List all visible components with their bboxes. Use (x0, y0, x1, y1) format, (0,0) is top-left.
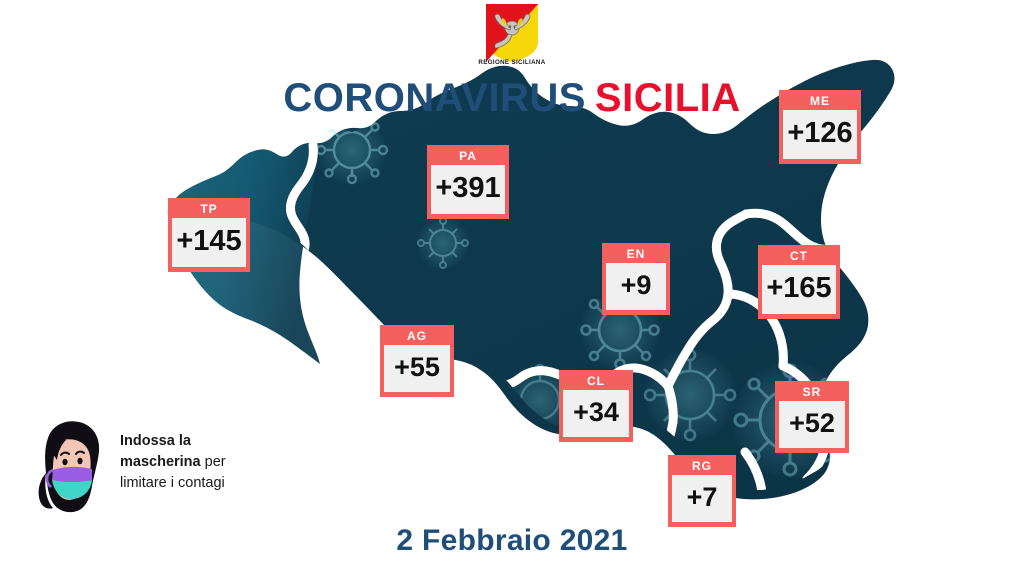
province-badge-sr[interactable]: SR +52 (775, 381, 849, 453)
province-code-pa: PA (431, 148, 505, 165)
province-value-me: +126 (783, 110, 857, 159)
mask-notice-line1: Indossa la (120, 433, 191, 449)
mask-notice-line2-bold: mascherina (120, 454, 201, 470)
province-value-ag: +55 (384, 345, 450, 392)
province-code-sr: SR (779, 384, 845, 401)
province-code-rg: RG (672, 458, 732, 475)
province-code-cl: CL (563, 373, 629, 390)
mask-notice: Indossa la mascherina per limitare i con… (24, 418, 276, 514)
regione-siciliana-logo (482, 2, 542, 64)
province-value-sr: +52 (779, 401, 845, 448)
province-value-ct: +165 (762, 265, 836, 314)
province-code-ct: CT (762, 248, 836, 265)
province-value-pa: +391 (431, 165, 505, 214)
province-code-en: EN (606, 246, 666, 263)
logo-caption: REGIONE SICILIANA (462, 59, 562, 66)
province-code-me: ME (783, 93, 857, 110)
province-badge-en[interactable]: EN +9 (602, 243, 670, 315)
province-badge-pa[interactable]: PA +391 (427, 145, 509, 219)
province-value-rg: +7 (672, 475, 732, 522)
province-badge-ag[interactable]: AG +55 (380, 325, 454, 397)
province-code-ag: AG (384, 328, 450, 345)
province-badge-rg[interactable]: RG +7 (668, 455, 736, 527)
mask-notice-line2-rest: per (201, 454, 226, 470)
title-part-sicilia: SICILIA (595, 76, 741, 120)
province-badge-ct[interactable]: CT +165 (758, 245, 840, 319)
mask-notice-line3: limitare i contagi (120, 475, 225, 491)
mask-notice-text: Indossa la mascherina per limitare i con… (120, 431, 280, 494)
province-value-cl: +34 (563, 390, 629, 437)
date-label: 2 Febbraio 2021 (0, 524, 1024, 558)
title-part-coronavirus: CORONAVIRUS (283, 76, 586, 120)
province-value-en: +9 (606, 263, 666, 310)
province-badge-me[interactable]: ME +126 (779, 90, 861, 164)
page-title: CORONAVIRUSSICILIA (0, 76, 1024, 121)
province-badge-cl[interactable]: CL +34 (559, 370, 633, 442)
infographic-canvas: REGIONE SICILIANA CORONAVIRUSSICILIA TP … (0, 0, 1024, 576)
province-code-tp: TP (172, 201, 246, 218)
province-badge-tp[interactable]: TP +145 (168, 198, 250, 272)
province-value-tp: +145 (172, 218, 246, 267)
woman-wearing-mask-illustration (24, 418, 116, 514)
